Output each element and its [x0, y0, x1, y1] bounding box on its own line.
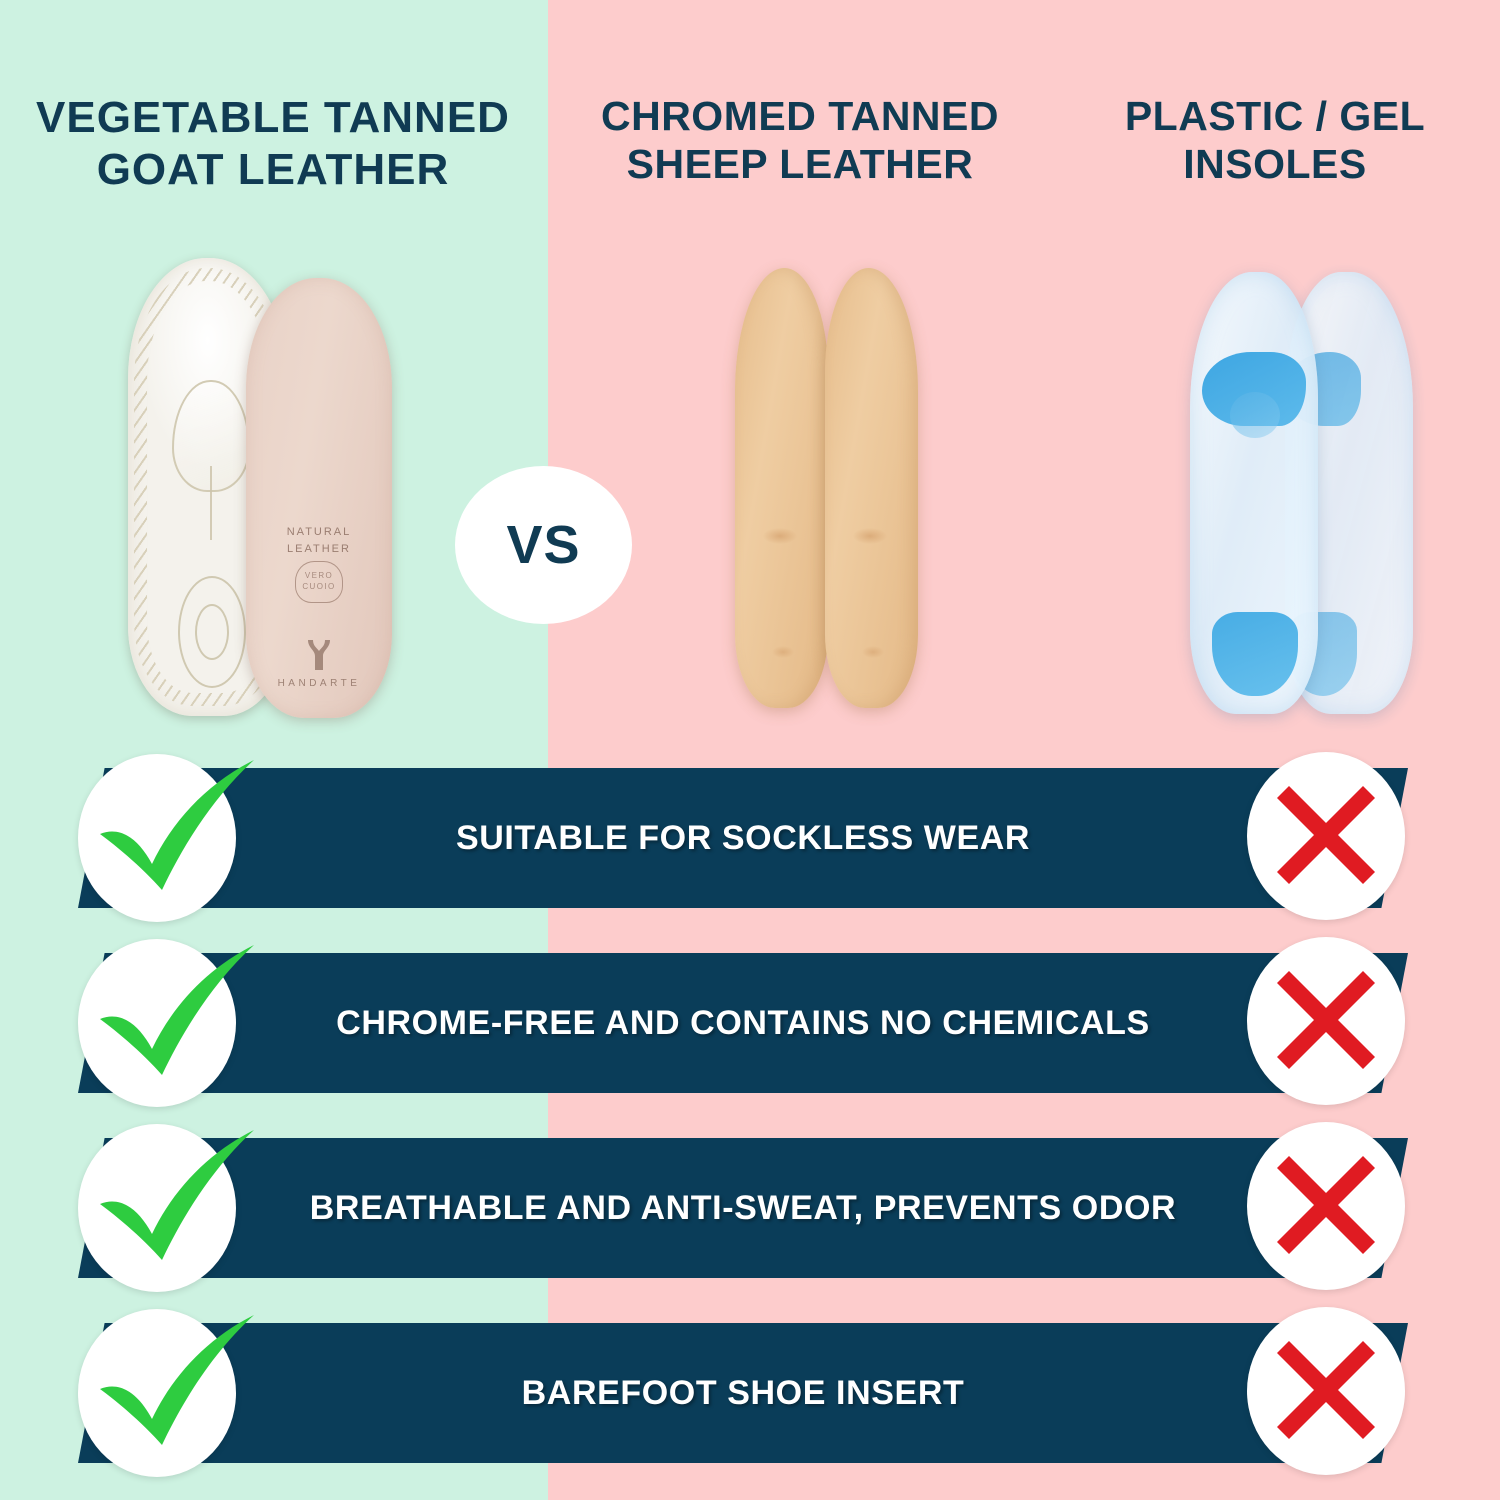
embossed-oval-shape [178, 576, 246, 688]
vero-cuoio-hide-stamp-icon: VERO CUOIO [295, 561, 343, 603]
check-icon [86, 1315, 250, 1467]
feature-left-verdict-yes [78, 1309, 236, 1477]
check-icon [86, 1130, 250, 1282]
check-icon [86, 945, 250, 1097]
feature-label: SUITABLE FOR SOCKLESS WEAR [78, 768, 1408, 908]
sheep-leather-insole-left [735, 268, 828, 708]
stamp-line-1: NATURAL [246, 524, 392, 541]
feature-row: CHROME-FREE AND CONTAINS NO CHEMICALS [0, 935, 1500, 1120]
leather-blemish [862, 646, 884, 658]
product-image-gel-insole-pair [1190, 272, 1440, 717]
vs-badge: VS [455, 466, 632, 624]
embossed-teardrop-shape [172, 380, 250, 492]
feature-right-verdict-no [1247, 1122, 1405, 1290]
brand-mark: HANDARTE [246, 638, 392, 689]
cross-icon [1271, 965, 1381, 1075]
gel-pad-arch [1230, 392, 1280, 438]
brand-name-text: HANDARTE [246, 678, 392, 689]
stamp-line-2: LEATHER [246, 541, 392, 558]
feature-left-verdict-yes [78, 1124, 236, 1292]
column-title-vegetable-tanned-goat-leather: VEGETABLE TANNED GOAT LEATHER [8, 92, 538, 196]
feature-row: BAREFOOT SHOE INSERT [0, 1305, 1500, 1490]
check-icon [86, 760, 250, 912]
sheep-leather-insole-right [825, 268, 918, 708]
feature-left-verdict-yes [78, 754, 236, 922]
gel-insole-front [1190, 272, 1318, 714]
column-title-chromed-tanned-sheep-leather: CHROMED TANNED SHEEP LEATHER [560, 92, 1040, 189]
handarte-h-logo-icon [304, 638, 334, 672]
vs-label: VS [506, 514, 580, 576]
infographic-canvas: VEGETABLE TANNED GOAT LEATHER CHROMED TA… [0, 0, 1500, 1500]
product-image-sheep-leather-insole-pair [735, 268, 925, 713]
feature-right-verdict-no [1247, 752, 1405, 920]
feature-left-verdict-yes [78, 939, 236, 1107]
column-title-plastic-gel-insoles: PLASTIC / GEL INSOLES [1075, 92, 1475, 189]
goat-leather-insole-smooth-side: NATURAL LEATHER VERO CUOIO HANDARTE [246, 278, 392, 718]
gel-pad-heel [1212, 612, 1298, 696]
leather-blemish [763, 528, 797, 544]
leather-blemish [772, 646, 794, 658]
hide-stamp-line-2: CUOIO [302, 582, 335, 593]
cross-icon [1271, 1335, 1381, 1445]
cross-icon [1271, 780, 1381, 890]
feature-row: SUITABLE FOR SOCKLESS WEAR [0, 750, 1500, 935]
feature-row: BREATHABLE AND ANTI-SWEAT, PREVENTS ODOR [0, 1120, 1500, 1305]
cross-icon [1271, 1150, 1381, 1260]
natural-leather-stamp: NATURAL LEATHER VERO CUOIO [246, 524, 392, 603]
feature-right-verdict-no [1247, 1307, 1405, 1475]
leather-blemish [853, 528, 887, 544]
feature-label: BAREFOOT SHOE INSERT [78, 1323, 1408, 1463]
feature-label: CHROME-FREE AND CONTAINS NO CHEMICALS [78, 953, 1408, 1093]
hide-stamp-line-1: VERO [305, 571, 333, 582]
product-image-goat-leather-insole-pair: NATURAL LEATHER VERO CUOIO HANDARTE [110, 250, 420, 720]
feature-right-verdict-no [1247, 937, 1405, 1105]
feature-label: BREATHABLE AND ANTI-SWEAT, PREVENTS ODOR [78, 1138, 1408, 1278]
